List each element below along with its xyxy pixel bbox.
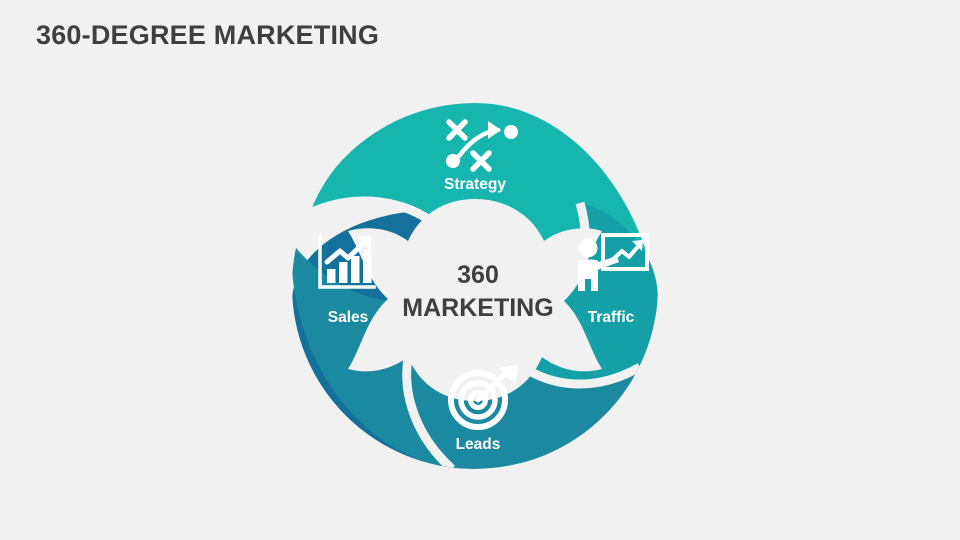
segment-label-strategy: Strategy bbox=[444, 176, 506, 193]
page-title: 360-DEGREE MARKETING bbox=[36, 20, 379, 51]
slide-canvas: 360-DEGREE MARKETING bbox=[0, 0, 960, 540]
segment-label-sales: Sales bbox=[328, 309, 369, 326]
center-title-line-2: MARKETING bbox=[402, 294, 553, 322]
segment-label-leads: Leads bbox=[456, 436, 501, 453]
segment-label-traffic: Traffic bbox=[588, 309, 635, 326]
diagram-svg: Strategy Traffic bbox=[292, 103, 658, 469]
marketing-cycle-diagram: Strategy Traffic bbox=[292, 103, 658, 469]
center-title-line-1: 360 bbox=[457, 261, 499, 289]
